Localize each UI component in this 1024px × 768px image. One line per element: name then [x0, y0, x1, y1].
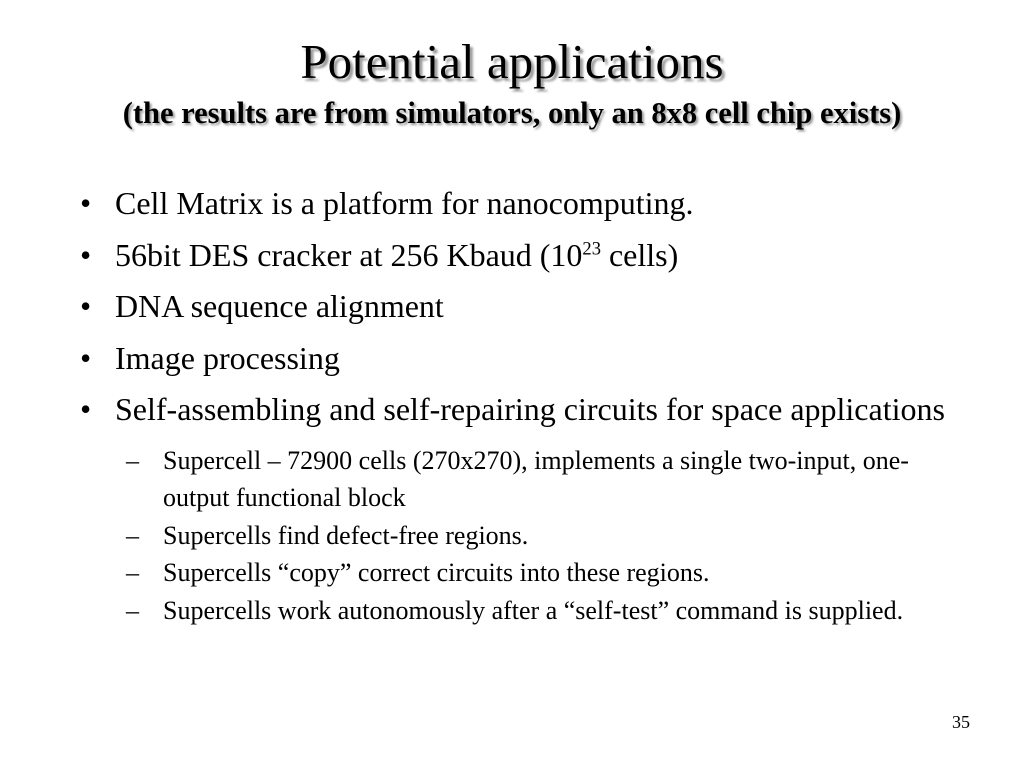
bullet-marker-icon: • — [80, 230, 104, 282]
page-subtitle: (the results are from simulators, only a… — [0, 94, 1024, 132]
bullet-marker-icon: • — [80, 178, 104, 230]
list-item-label: Cell Matrix is a platform for nanocomput… — [115, 178, 984, 230]
sub-list-item: – Supercell – 72900 cells (270x270), imp… — [0, 442, 1024, 517]
sub-list: – Supercell – 72900 cells (270x270), imp… — [0, 442, 1024, 630]
title-block: Potential applications (the results are … — [0, 34, 1024, 132]
sub-list-item: – Supercells work autonomously after a “… — [0, 592, 1024, 630]
list-item-text-after: cells) — [601, 237, 678, 273]
list-item-text-before: 56bit DES cracker at 256 Kbaud (10 — [115, 237, 582, 273]
dash-marker-icon: – — [126, 592, 150, 630]
list-item: • DNA sequence alignment — [0, 281, 1024, 333]
sub-list-item-label: Supercells “copy” correct circuits into … — [163, 554, 954, 592]
slide-canvas: Potential applications (the results are … — [0, 0, 1024, 768]
sub-list-item: – Supercells find defect-free regions. — [0, 517, 1024, 555]
sub-list-item-label: Supercells work autonomously after a “se… — [163, 592, 954, 630]
page-number: 35 — [952, 712, 970, 732]
list-item-label: Image processing — [115, 333, 984, 385]
dash-marker-icon: – — [126, 554, 150, 592]
list-item: • Cell Matrix is a platform for nanocomp… — [0, 178, 1024, 230]
list-item-label: DNA sequence alignment — [115, 281, 984, 333]
list-item-superscript: 23 — [582, 238, 601, 259]
page-title: Potential applications — [0, 34, 1024, 90]
sub-list-item: – Supercells “copy” correct circuits int… — [0, 554, 1024, 592]
dash-marker-icon: – — [126, 517, 150, 555]
bullet-marker-icon: • — [80, 333, 104, 385]
list-item: • Image processing — [0, 333, 1024, 385]
bullet-marker-icon: • — [80, 384, 104, 436]
content-body: • Cell Matrix is a platform for nanocomp… — [0, 178, 1024, 629]
sub-list-item-label: Supercell – 72900 cells (270x270), imple… — [163, 442, 954, 517]
list-item-label: 56bit DES cracker at 256 Kbaud (1023 cel… — [115, 230, 984, 282]
list-item: • 56bit DES cracker at 256 Kbaud (1023 c… — [0, 230, 1024, 282]
dash-marker-icon: – — [126, 442, 150, 480]
bullet-marker-icon: • — [80, 281, 104, 333]
list-item-label: Self-assembling and self-repairing circu… — [115, 384, 984, 436]
sub-list-item-label: Supercells find defect-free regions. — [163, 517, 954, 555]
list-item: • Self-assembling and self-repairing cir… — [0, 384, 1024, 436]
